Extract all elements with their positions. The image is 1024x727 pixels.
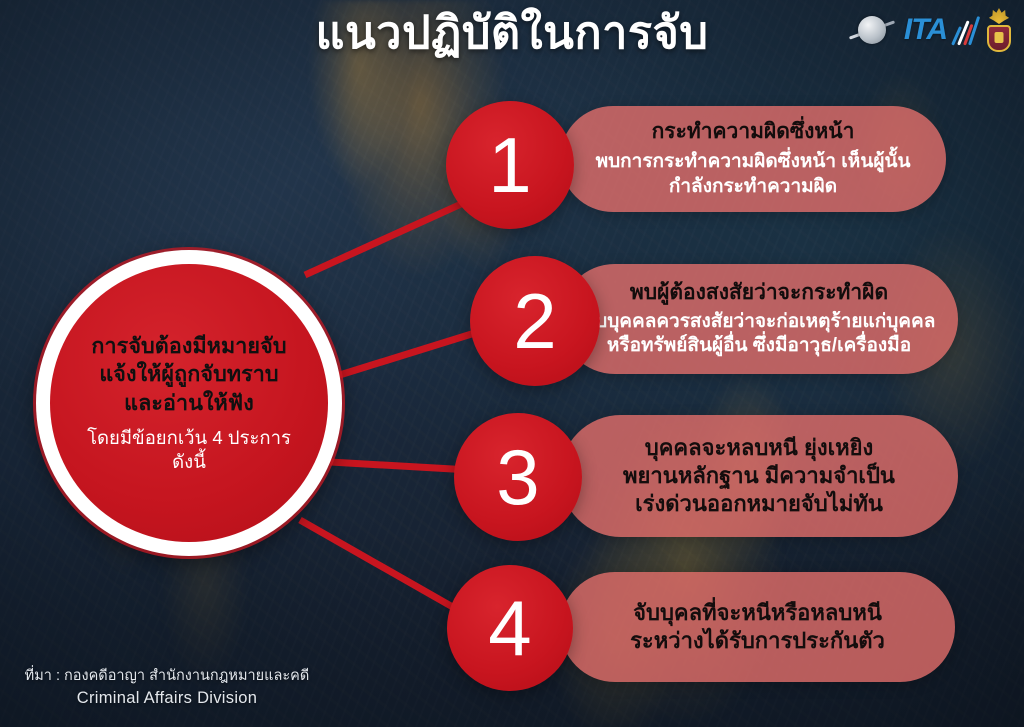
item-4-body-line-2: ระหว่างได้รับการประกันตัว (630, 627, 885, 655)
item-4-body: จับบุคลที่จะหนีหรือหลบหนี ระหว่างได้รับก… (630, 599, 885, 655)
item-1-pill: กระทำความผิดซึ่งหน้า พบการกระทำความผิดซึ… (560, 106, 946, 212)
infographic-poster: แนวปฏิบัติในการจับ ITA การจับต้องมีหมายจ… (0, 0, 1024, 727)
item-2-number-badge: 2 (470, 256, 600, 386)
item-3-number-badge: 3 (454, 413, 582, 541)
connector-to-item-1 (305, 200, 470, 275)
central-hub: การจับต้องมีหมายจับ แจ้งให้ผู้ถูกจับทราบ… (36, 250, 342, 556)
item-2-body: พบบุคคลควรสงสัยว่าจะก่อเหตุร้ายแก่บุคคล … (583, 310, 936, 359)
hub-subtext-line-2: ดังนี้ (87, 450, 291, 474)
item-4-pill: จับบุคลที่จะหนีหรือหลบหนี ระหว่างได้รับก… (560, 572, 955, 682)
item-4-number-badge: 4 (447, 565, 573, 691)
connector-to-item-2 (330, 332, 478, 378)
item-1-body: พบการกระทำความผิดซึ่งหน้า เห็นผู้นั้น กำ… (596, 150, 911, 199)
item-1-body-line-2: กำลังกระทำความผิด (596, 175, 911, 199)
item-1-title: กระทำความผิดซึ่งหน้า (652, 119, 855, 145)
item-3-body-line-2: พยานหลักฐาน มีความจำเป็น (623, 462, 895, 490)
item-3-body-line-1: บุคคลจะหลบหนี ยุ่งเหยิง (623, 434, 895, 462)
hub-heading-line-3: และอ่านให้ฟัง (91, 389, 286, 418)
item-3-pill: บุคคลจะหลบหนี ยุ่งเหยิง พยานหลักฐาน มีคว… (560, 415, 958, 537)
connector-to-item-4 (300, 520, 472, 618)
item-2-body-line-1: พบบุคคลควรสงสัยว่าจะก่อเหตุร้ายแก่บุคคล (583, 310, 936, 334)
central-hub-content: การจับต้องมีหมายจับ แจ้งให้ผู้ถูกจับทราบ… (50, 264, 328, 542)
item-1-number-badge: 1 (446, 101, 574, 229)
hub-subtext-line-1: โดยมีข้อยกเว้น 4 ประการ (87, 426, 291, 450)
hub-heading-line-1: การจับต้องมีหมายจับ (91, 332, 286, 361)
item-2-title: พบผู้ต้องสงสัยว่าจะกระทำผิด (630, 280, 888, 306)
hub-subtext: โดยมีข้อยกเว้น 4 ประการ ดังนี้ (87, 426, 291, 474)
connector-to-item-3 (330, 462, 470, 470)
item-1-body-line-1: พบการกระทำความผิดซึ่งหน้า เห็นผู้นั้น (596, 150, 911, 174)
item-3-body-line-3: เร่งด่วนออกหมายจับไม่ทัน (623, 490, 895, 518)
hub-heading-line-2: แจ้งให้ผู้ถูกจับทราบ (91, 360, 286, 389)
item-4-body-line-1: จับบุคลที่จะหนีหรือหลบหนี (630, 599, 885, 627)
item-2-pill: พบผู้ต้องสงสัยว่าจะกระทำผิด พบบุคคลควรสง… (560, 264, 958, 374)
item-3-body: บุคคลจะหลบหนี ยุ่งเหยิง พยานหลักฐาน มีคว… (623, 434, 895, 518)
item-2-body-line-2: หรือทรัพย์สินผู้อื่น ซึ่งมีอาวุธ/เครื่อง… (583, 334, 936, 358)
hub-heading: การจับต้องมีหมายจับ แจ้งให้ผู้ถูกจับทราบ… (91, 332, 286, 418)
